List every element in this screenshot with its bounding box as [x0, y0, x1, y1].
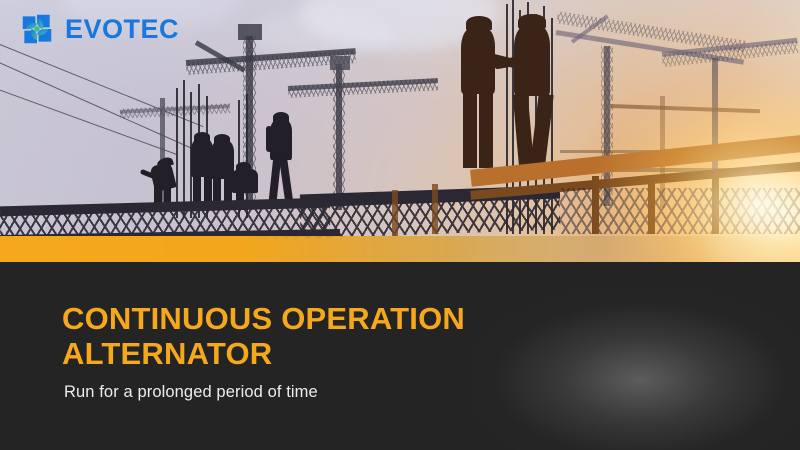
- support-column: [432, 184, 438, 234]
- subtitle: Run for a prolonged period of time: [64, 383, 492, 402]
- worker-torso: [191, 139, 213, 177]
- support-column: [648, 182, 655, 234]
- message-section: CONTINUOUS OPERATION ALTERNATOR Run for …: [0, 262, 800, 450]
- worker-torso: [211, 141, 234, 179]
- support-column: [712, 178, 719, 234]
- rebar-bar: [183, 80, 185, 218]
- support-column: [592, 176, 599, 234]
- headline-line-1: CONTINUOUS OPERATION: [62, 301, 465, 336]
- brand-name: EVOTEC: [65, 16, 179, 43]
- copy-block: CONTINUOUS OPERATION ALTERNATOR Run for …: [62, 302, 492, 402]
- brand-logo[interactable]: EVOTEC: [18, 10, 179, 48]
- accent-divider-band: [0, 236, 800, 262]
- crane-tower-top: [238, 24, 262, 40]
- worker-leg: [479, 92, 493, 168]
- marketing-banner: CONTINUOUS OPERATION ALTERNATOR Run for …: [0, 0, 800, 450]
- worker-torso: [270, 120, 292, 160]
- support-column: [392, 190, 398, 236]
- product-floor-glow: [470, 262, 800, 450]
- worker-arm: [266, 126, 272, 152]
- cloud-shape: [250, 10, 390, 56]
- rebar-bar: [176, 88, 178, 218]
- crane-tower-top: [330, 56, 350, 70]
- headline-line-2: ALTERNATOR: [62, 336, 272, 371]
- worker-leg: [463, 92, 477, 168]
- page-title: CONTINUOUS OPERATION ALTERNATOR: [62, 302, 492, 371]
- pinwheel-flower-icon: [18, 10, 56, 48]
